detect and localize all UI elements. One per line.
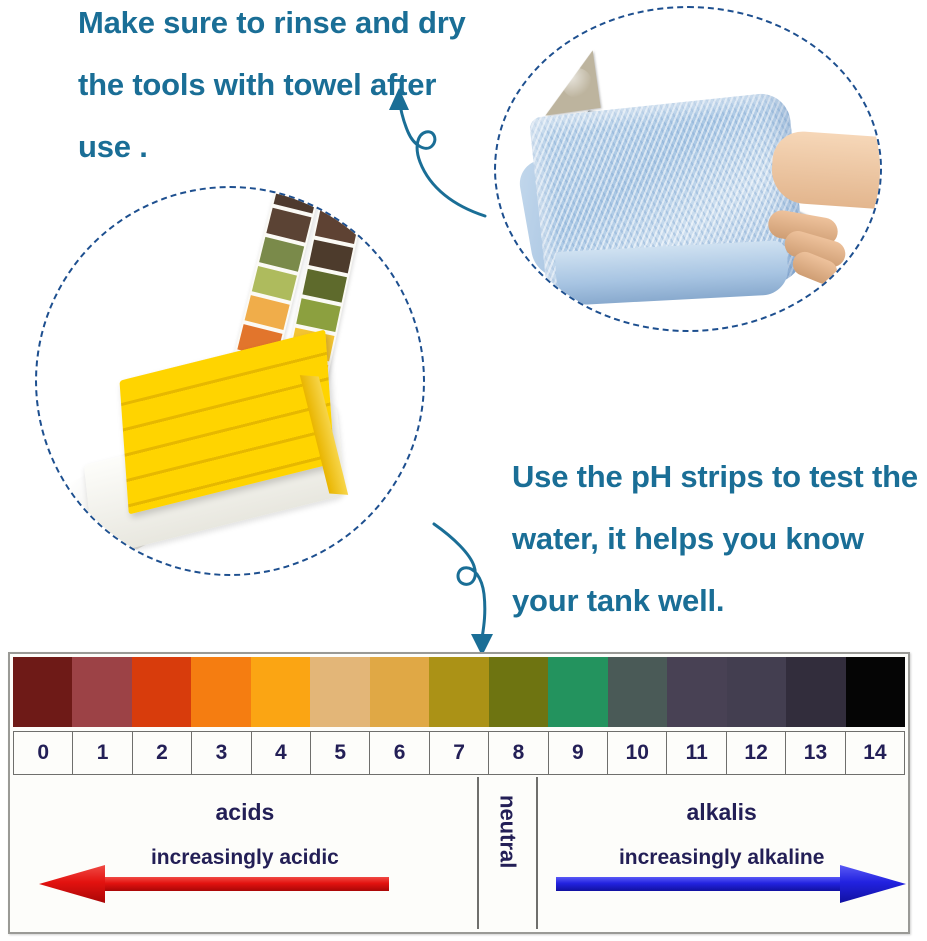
ph-swatch (667, 657, 726, 727)
photo-ph-strip-booklet (35, 186, 425, 576)
ph-swatch (72, 657, 131, 727)
ph-value-cell: 14 (846, 732, 904, 774)
ph-value-cell: 13 (786, 732, 845, 774)
ph-swatch (489, 657, 548, 727)
curved-arrow-down-icon (418, 508, 538, 658)
ph-swatch (786, 657, 845, 727)
ph-swatch (727, 657, 786, 727)
ph-zone-row: acids increasingly acidic neut (13, 777, 905, 929)
ph-value-cell: 10 (608, 732, 667, 774)
photo-towel-drying (494, 6, 882, 332)
blade-highlight (562, 68, 592, 98)
ph-value-cell: 11 (667, 732, 726, 774)
ph-value-cell: 8 (489, 732, 548, 774)
ph-swatch (13, 657, 72, 727)
ph-swatch (310, 657, 369, 727)
ph-value-cell: 1 (73, 732, 132, 774)
ph-zone-neutral: neutral (477, 777, 539, 929)
ph-value-cell: 9 (549, 732, 608, 774)
ph-swatch (132, 657, 191, 727)
arrow-increasingly-alkaline (556, 865, 906, 903)
ph-value-cell: 7 (430, 732, 489, 774)
ph-swatch (370, 657, 429, 727)
hand-arm (770, 130, 882, 211)
ph-swatch (846, 657, 905, 727)
ph-value-cell: 12 (727, 732, 786, 774)
ph-swatch (608, 657, 667, 727)
towel-fold-bottom (555, 240, 790, 306)
ph-swatch (251, 657, 310, 727)
zone-label: neutral (495, 795, 521, 868)
ph-scale-chart: 0 1 2 3 4 5 6 7 8 9 10 11 12 13 14 acids… (8, 652, 910, 934)
ph-zone-acids: acids increasingly acidic (13, 777, 477, 929)
ph-color-bar (13, 657, 905, 727)
strip-booklet-scene (37, 188, 423, 574)
ph-value-cell: 2 (133, 732, 192, 774)
ph-swatch (191, 657, 250, 727)
ph-value-cell: 0 (14, 732, 73, 774)
ph-zone-alkalis: alkalis increasingly alkaline (538, 777, 905, 929)
instruction-text-strips: Use the pH strips to test the water, it … (512, 446, 927, 632)
ph-value-cell: 6 (370, 732, 429, 774)
ph-value-cell: 3 (192, 732, 251, 774)
towel-scene (496, 8, 880, 330)
zone-label: alkalis (687, 799, 757, 826)
ph-number-row: 0 1 2 3 4 5 6 7 8 9 10 11 12 13 14 (13, 731, 905, 775)
ph-value-cell: 5 (311, 732, 370, 774)
ph-swatch (548, 657, 607, 727)
zone-label: acids (216, 799, 275, 826)
arrow-increasingly-acidic (39, 865, 389, 903)
ph-value-cell: 4 (252, 732, 311, 774)
ph-swatch (429, 657, 488, 727)
